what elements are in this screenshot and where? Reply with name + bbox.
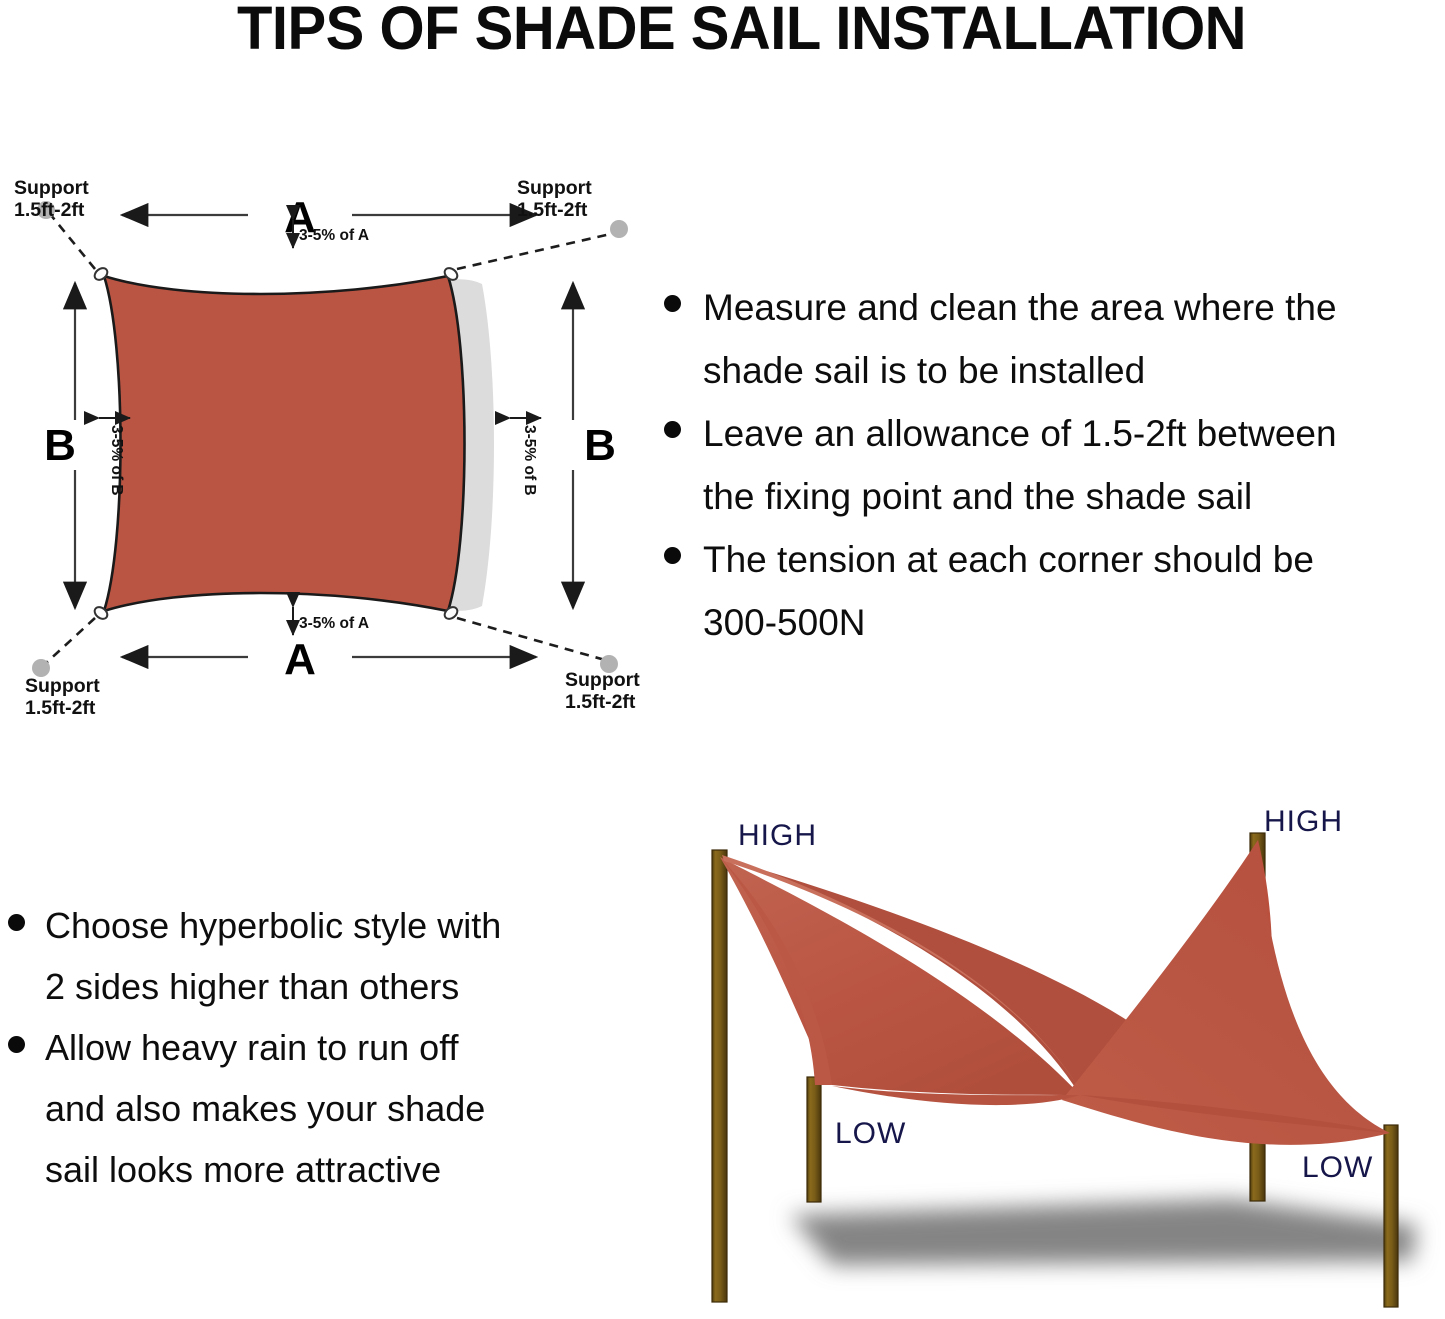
- support-label-top-right: Support 1.5ft-2ft: [517, 177, 592, 221]
- dimension-b-left: B: [44, 283, 76, 608]
- bullet-dot-icon: [664, 295, 681, 312]
- ground-shadow: [790, 1199, 1417, 1265]
- tips-list-left: Choose hyperbolic style with 2 sides hig…: [0, 895, 625, 1200]
- svg-text:Support: Support: [517, 177, 592, 199]
- svg-text:1.5ft-2ft: 1.5ft-2ft: [517, 199, 588, 221]
- curve-depth-bottom: 3-5% of A: [293, 607, 369, 635]
- curve-label-right: 3-5% of B: [521, 425, 538, 496]
- list-item-text: Choose hyperbolic style with 2 sides hig…: [45, 895, 501, 1017]
- label-low-left: LOW: [835, 1117, 906, 1150]
- curve-label-left: 3-5% of B: [108, 425, 125, 496]
- post-low-left: [807, 1077, 821, 1202]
- list-item-text: Allow heavy rain to run off and also mak…: [45, 1017, 485, 1200]
- label-low-right: LOW: [1302, 1151, 1373, 1184]
- label-high-right: HIGH: [1264, 805, 1343, 838]
- bullet-dot-icon: [664, 421, 681, 438]
- bullet-dot-icon: [8, 1036, 25, 1053]
- list-item: Allow heavy rain to run off and also mak…: [0, 1017, 625, 1200]
- dim-label-a-bottom: A: [284, 635, 316, 684]
- list-item-text: Leave an allowance of 1.5-2ft between th…: [703, 402, 1337, 528]
- list-item-text: The tension at each corner should be 300…: [703, 528, 1314, 654]
- support-label-bottom-right: Support 1.5ft-2ft: [565, 669, 640, 713]
- list-item: Measure and clean the area where the sha…: [650, 276, 1445, 402]
- svg-text:Support: Support: [565, 669, 640, 691]
- svg-text:1.5ft-2ft: 1.5ft-2ft: [565, 691, 636, 713]
- curve-label-top: 3-5% of A: [299, 227, 369, 244]
- curve-depth-left: 3-5% of B: [99, 418, 130, 496]
- list-item: The tension at each corner should be 300…: [650, 528, 1445, 654]
- list-item: Leave an allowance of 1.5-2ft between th…: [650, 402, 1445, 528]
- list-item: Choose hyperbolic style with 2 sides hig…: [0, 895, 625, 1017]
- post-high-left: [712, 850, 727, 1302]
- support-label-bottom-left: Support 1.5ft-2ft: [25, 675, 100, 719]
- support-label-top-left: Support 1.5ft-2ft: [14, 177, 89, 221]
- dim-label-b-right: B: [584, 421, 616, 470]
- hyperbolic-sail-diagram: HIGH HIGH LOW LOW: [672, 795, 1445, 1319]
- svg-text:1.5ft-2ft: 1.5ft-2ft: [25, 697, 96, 719]
- list-item-text: Measure and clean the area where the sha…: [703, 276, 1337, 402]
- dimension-a-bottom: A: [122, 635, 536, 684]
- dimension-b-right: B: [573, 283, 616, 608]
- tips-list-right: Measure and clean the area where the sha…: [650, 276, 1445, 654]
- post-low-right: [1384, 1125, 1398, 1307]
- rectangular-sail-diagram: A 3-5% of A A 3-5% of A B 3-5% of B B 3-…: [0, 170, 650, 730]
- svg-text:1.5ft-2ft: 1.5ft-2ft: [14, 199, 85, 221]
- label-high-left: HIGH: [738, 819, 817, 852]
- shade-sail-shape: [104, 276, 465, 611]
- bullet-dot-icon: [8, 914, 25, 931]
- bullet-dot-icon: [664, 547, 681, 564]
- curve-depth-right: 3-5% of B: [510, 418, 541, 496]
- dim-label-b-left: B: [44, 421, 76, 470]
- curve-label-bottom: 3-5% of A: [299, 615, 369, 632]
- page-title: TIPS OF SHADE SAIL INSTALLATION: [36, 0, 1409, 60]
- sail-lobe-left: [720, 857, 1142, 1095]
- svg-text:Support: Support: [14, 177, 89, 199]
- svg-text:Support: Support: [25, 675, 100, 697]
